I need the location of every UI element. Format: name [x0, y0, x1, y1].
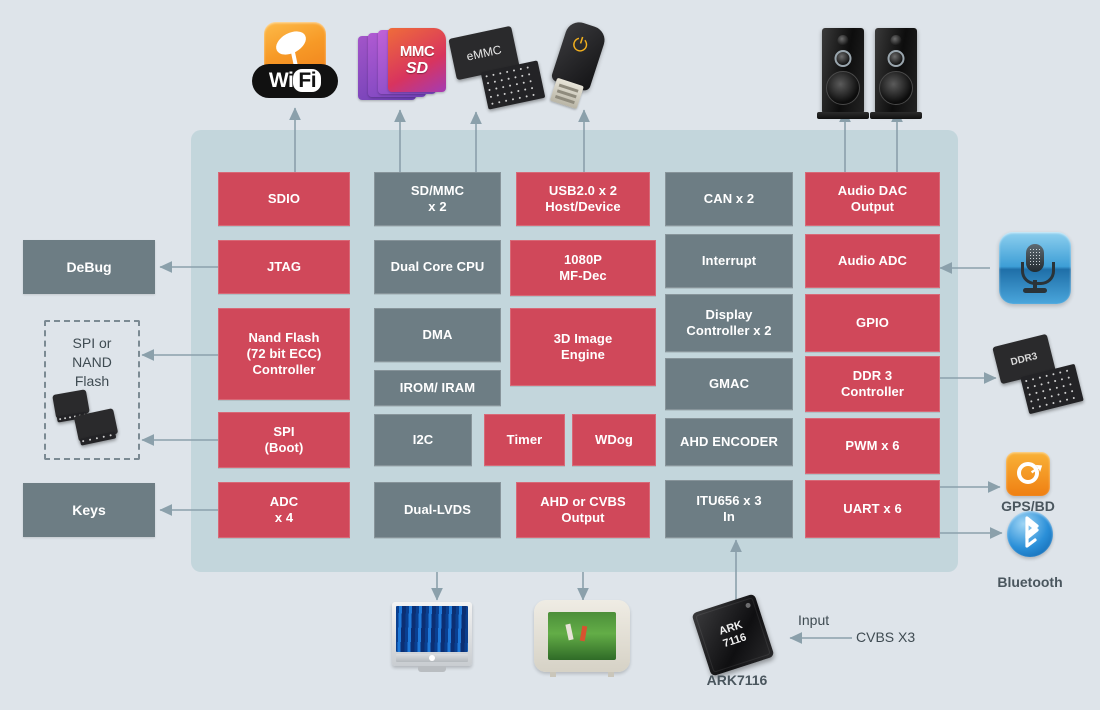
wifi-icon: WiFi	[264, 22, 350, 102]
block-ddr3-controller[interactable]: DDR 3Controller	[805, 356, 940, 412]
diagram-canvas: SDIO JTAG Nand Flash(72 bit ECC)Controll…	[0, 0, 1100, 710]
block-1080p-mf-dec[interactable]: 1080PMF-Dec	[510, 240, 656, 296]
ark-chip-top-label: ARK	[718, 619, 744, 638]
block-label: DisplayController x 2	[682, 307, 775, 340]
headrest-display-icon	[534, 600, 632, 680]
block-label: SD/MMCx 2	[407, 183, 468, 216]
block-label: 1080PMF-Dec	[555, 252, 611, 285]
block-label: CAN x 2	[700, 191, 759, 207]
external-debug[interactable]: DeBug	[23, 240, 155, 294]
block-label: Dual-LVDS	[400, 502, 475, 518]
wifi-label-fi: Fi	[293, 69, 321, 92]
block-nand-flash-controller[interactable]: Nand Flash(72 bit ECC)Controller	[218, 308, 350, 400]
block-label: GMAC	[705, 376, 753, 392]
block-label: PWM x 6	[841, 438, 903, 454]
block-label: Nand Flash(72 bit ECC)Controller	[243, 330, 326, 379]
sd-label: SD	[406, 61, 428, 77]
block-interrupt[interactable]: Interrupt	[665, 234, 793, 288]
ddr3-chip-icon: DDR3	[996, 340, 1086, 418]
block-label: Timer	[503, 432, 547, 448]
block-sd-mmc[interactable]: SD/MMCx 2	[374, 172, 501, 226]
mmc-label: MMC	[400, 44, 434, 59]
block-3d-image-engine[interactable]: 3D ImageEngine	[510, 308, 656, 386]
speakers-icon	[822, 28, 922, 120]
block-label: DMA	[419, 327, 457, 343]
ark7116-label: ARK7116	[676, 672, 798, 688]
block-itu656-in[interactable]: ITU656 x 3In	[665, 480, 793, 538]
block-label: Audio ADC	[834, 253, 911, 269]
block-label: SPI(Boot)	[261, 424, 308, 457]
monitor-icon	[392, 602, 474, 674]
block-label: GPIO	[852, 315, 893, 331]
ark-chip-bottom-label: 7116	[722, 631, 748, 650]
block-ahd-or-cvbs-output[interactable]: AHD or CVBSOutput	[516, 482, 650, 538]
block-pwm[interactable]: PWM x 6	[805, 418, 940, 474]
bluetooth-label: Bluetooth	[970, 574, 1090, 590]
block-label: ADCx 4	[266, 494, 302, 527]
block-gmac[interactable]: GMAC	[665, 358, 793, 410]
emmc-icon: eMMC	[452, 32, 546, 110]
emmc-label: eMMC	[465, 42, 502, 63]
block-irom-iram[interactable]: IROM/ IRAM	[374, 370, 501, 406]
block-audio-adc[interactable]: Audio ADC	[805, 234, 940, 288]
block-label: WDog	[591, 432, 637, 448]
usb-drive-icon: ⏻	[545, 19, 627, 116]
block-ahd-encoder[interactable]: AHD ENCODER	[665, 418, 793, 466]
wifi-label-wi: Wi	[269, 69, 293, 92]
block-label: Interrupt	[698, 253, 760, 269]
external-keys[interactable]: Keys	[23, 483, 155, 537]
block-sdio[interactable]: SDIO	[218, 172, 350, 226]
block-label: DDR 3Controller	[837, 368, 908, 401]
gps-icon: ➚	[1006, 452, 1050, 496]
block-jtag[interactable]: JTAG	[218, 240, 350, 294]
cvbs-x3-label: CVBS X3	[856, 629, 915, 645]
block-display-controller[interactable]: DisplayController x 2	[665, 294, 793, 352]
bluetooth-icon	[1007, 511, 1053, 557]
ddr3-label: DDR3	[1009, 350, 1038, 367]
external-label: DeBug	[66, 259, 111, 275]
block-uart[interactable]: UART x 6	[805, 480, 940, 538]
block-label: ITU656 x 3In	[692, 493, 765, 526]
spi-nand-flash-label: SPI orNANDFlash	[48, 334, 136, 391]
block-label: UART x 6	[839, 501, 906, 517]
flash-chip-icon	[54, 392, 130, 452]
block-label: AHD ENCODER	[676, 434, 782, 450]
block-dual-core-cpu[interactable]: Dual Core CPU	[374, 240, 501, 294]
ark7116-chip-icon: ARK 7116	[700, 602, 774, 676]
block-wdog[interactable]: WDog	[572, 414, 656, 466]
block-label: SDIO	[264, 191, 304, 207]
block-usb2[interactable]: USB2.0 x 2Host/Device	[516, 172, 650, 226]
block-audio-dac-output[interactable]: Audio DACOutput	[805, 172, 940, 226]
block-label: USB2.0 x 2Host/Device	[541, 183, 625, 216]
block-label: JTAG	[263, 259, 305, 275]
block-label: Dual Core CPU	[387, 259, 489, 275]
block-label: IROM/ IRAM	[396, 380, 479, 396]
block-label: AHD or CVBSOutput	[536, 494, 630, 527]
block-label: I2C	[409, 432, 438, 448]
block-can[interactable]: CAN x 2	[665, 172, 793, 226]
block-label: 3D ImageEngine	[550, 331, 617, 364]
microphone-icon	[999, 232, 1071, 304]
block-timer[interactable]: Timer	[484, 414, 565, 466]
block-label: Audio DACOutput	[834, 183, 912, 216]
block-i2c[interactable]: I2C	[374, 414, 472, 466]
block-adc[interactable]: ADCx 4	[218, 482, 350, 538]
block-dual-lvds[interactable]: Dual-LVDS	[374, 482, 501, 538]
block-gpio[interactable]: GPIO	[805, 294, 940, 352]
input-label: Input	[798, 612, 829, 628]
block-dma[interactable]: DMA	[374, 308, 501, 362]
wifi-text-badge: WiFi	[252, 64, 338, 98]
external-label: Keys	[72, 502, 105, 518]
sd-mmc-card-icon: MMC SD	[358, 28, 448, 104]
block-spi-boot[interactable]: SPI(Boot)	[218, 412, 350, 468]
